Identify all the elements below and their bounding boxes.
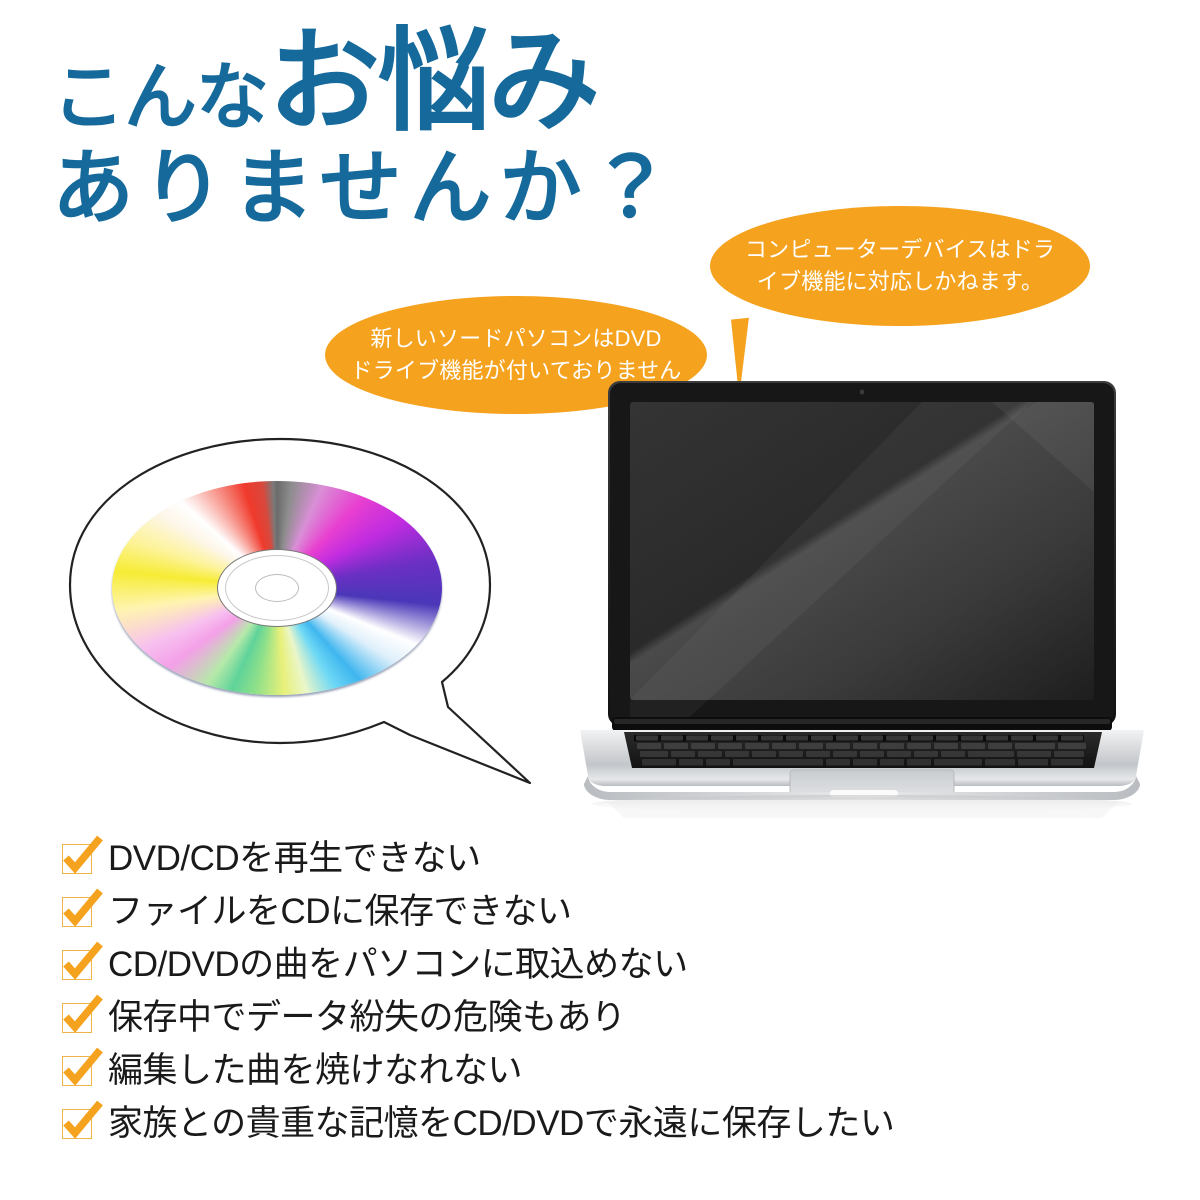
problem-checklist: DVD/CDを再生できない ファイルをCDに保存できない CD/DVDの曲をパソ… [62, 832, 1152, 1150]
checkmark-icon [62, 1003, 92, 1033]
list-item: DVD/CDを再生できない [62, 832, 1152, 885]
list-item-label: ファイルをCDに保存できない [108, 894, 572, 929]
checkmark-icon [62, 844, 92, 874]
headline-line-1: こんな お悩み [52, 26, 812, 138]
cd-disc-icon [112, 481, 442, 695]
checkmark-icon [62, 950, 92, 980]
promo-banner: こんな お悩み ありませんか？ コンピューターデバイスはドラ イブ機能に対応しか… [0, 0, 1200, 1200]
checkmark-icon [62, 897, 92, 927]
bubble-left-line-1: 新しいソードパソコンはDVD [350, 323, 681, 355]
headline-line-2: ありませんか？ [52, 148, 812, 230]
headline-small-text: こんな [52, 61, 268, 134]
list-item: 編集した曲を焼けなれない [62, 1044, 1152, 1097]
list-item-label: 編集した曲を焼けなれない [108, 1053, 522, 1088]
checkmark-icon [62, 1056, 92, 1086]
speech-bubble-right: コンピューターデバイスはドラ イブ機能に対応しかねます。 [710, 206, 1090, 326]
list-item-label: 保存中でデータ紛失の危険もあり [108, 1000, 626, 1035]
page-title: こんな お悩み ありませんか？ [52, 26, 812, 230]
list-item: CD/DVDの曲をパソコンに取込めない [62, 938, 1152, 991]
list-item: 家族との貴重な記憶をCD/DVDで永遠に保存したい [62, 1097, 1152, 1150]
bubble-right-line-2: イブ機能に対応しかねます。 [745, 266, 1055, 298]
list-item-label: 家族との貴重な記憶をCD/DVDで永遠に保存したい [108, 1106, 894, 1141]
checkmark-icon [62, 1109, 92, 1139]
bubble-right-line-1: コンピューターデバイスはドラ [745, 234, 1055, 266]
list-item: ファイルをCDに保存できない [62, 885, 1152, 938]
list-item-label: CD/DVDの曲をパソコンに取込めない [108, 947, 688, 982]
list-item-label: DVD/CDを再生できない [108, 841, 481, 876]
headline-emphasis-text: お悩み [268, 26, 598, 138]
cd-hub-outer [217, 549, 337, 627]
laptop-icon [562, 372, 1162, 822]
cd-center-hole [255, 574, 299, 602]
list-item: 保存中でデータ紛失の危険もあり [62, 991, 1152, 1044]
